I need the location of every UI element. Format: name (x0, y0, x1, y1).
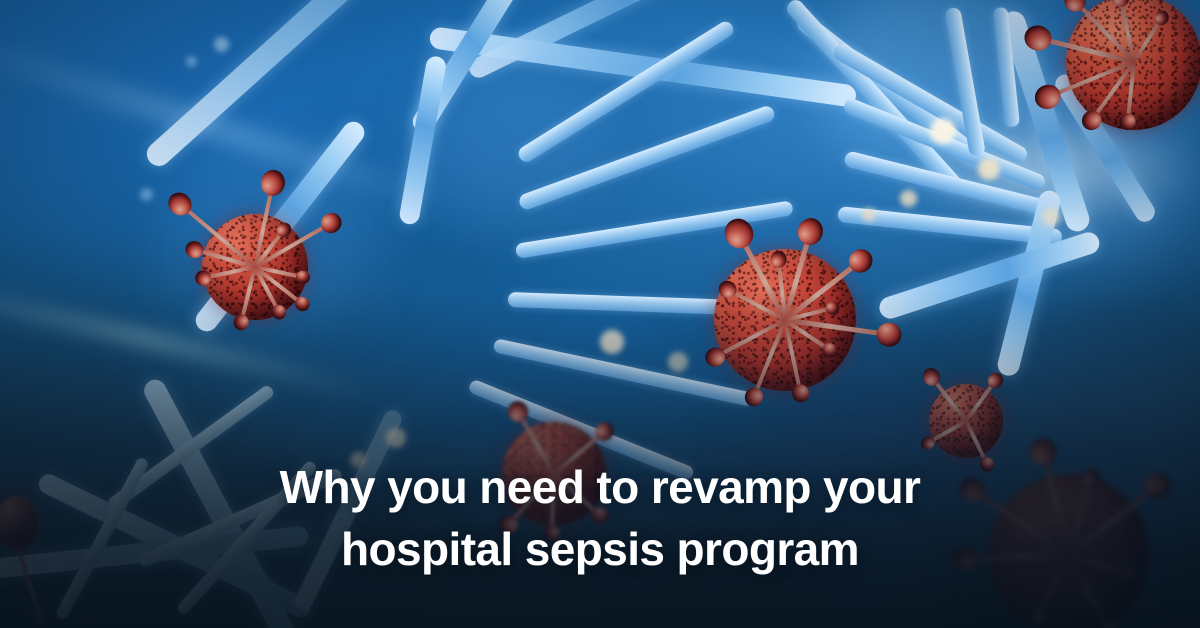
headline-line-2: hospital sepsis program (60, 518, 1140, 580)
headline-line-1: Why you need to revamp your (60, 456, 1140, 518)
hero-banner: Why you need to revamp your hospital sep… (0, 0, 1200, 628)
headline: Why you need to revamp your hospital sep… (0, 456, 1200, 580)
